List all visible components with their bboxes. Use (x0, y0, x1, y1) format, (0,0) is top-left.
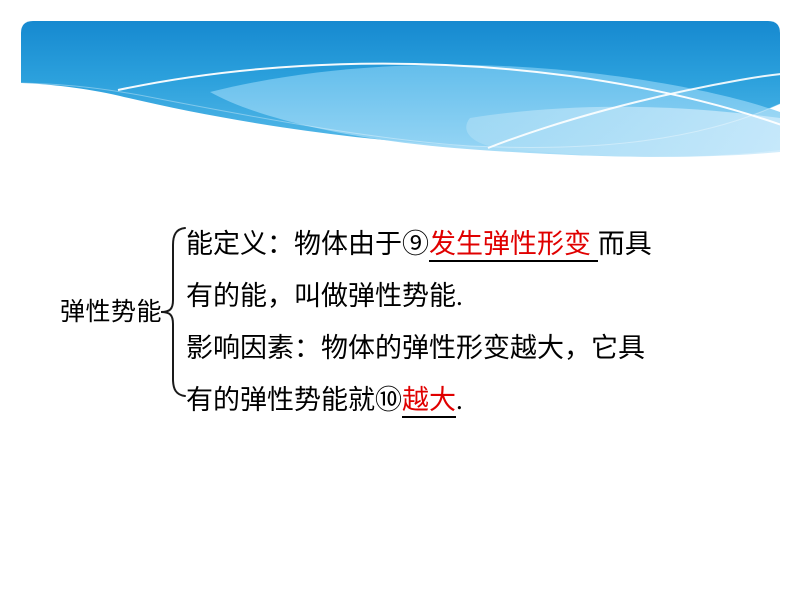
definition-text-block: 能定义：物体由于⑨发生弹性形变而具 有的能，叫做弹性势能. 影响因素：物体的弹性… (186, 218, 746, 426)
answer-blank-10: 越大 (402, 385, 456, 418)
text-line-4: 有的弹性势能就⑩越大. (186, 374, 746, 426)
text-line-1: 能定义：物体由于⑨发生弹性形变而具 (186, 218, 746, 270)
category-label: 弹性势能 (22, 296, 162, 330)
text-line-3: 影响因素：物体的弹性形变越大，它具 (186, 322, 746, 374)
text-line-2: 有的能，叫做弹性势能. (186, 270, 746, 322)
line1-prefix: 能定义：物体由于 (186, 229, 402, 259)
line3-text: 影响因素：物体的弹性形变越大，它具 (186, 333, 645, 363)
answer-blank-9: 发生弹性形变 (429, 229, 598, 262)
blank-marker-10: ⑩ (375, 385, 402, 415)
line4-suffix: . (456, 385, 463, 415)
line4-prefix: 有的弹性势能就 (186, 385, 375, 415)
line1-suffix: 而具 (598, 229, 652, 259)
slide-canvas: 弹性势能 能定义：物体由于⑨发生弹性形变而具 有的能，叫做弹性势能. 影响因素：… (0, 0, 800, 600)
line2-text: 有的能，叫做弹性势能. (186, 281, 463, 311)
decorative-wave-banner (0, 0, 800, 170)
blank-marker-9: ⑨ (402, 229, 429, 259)
